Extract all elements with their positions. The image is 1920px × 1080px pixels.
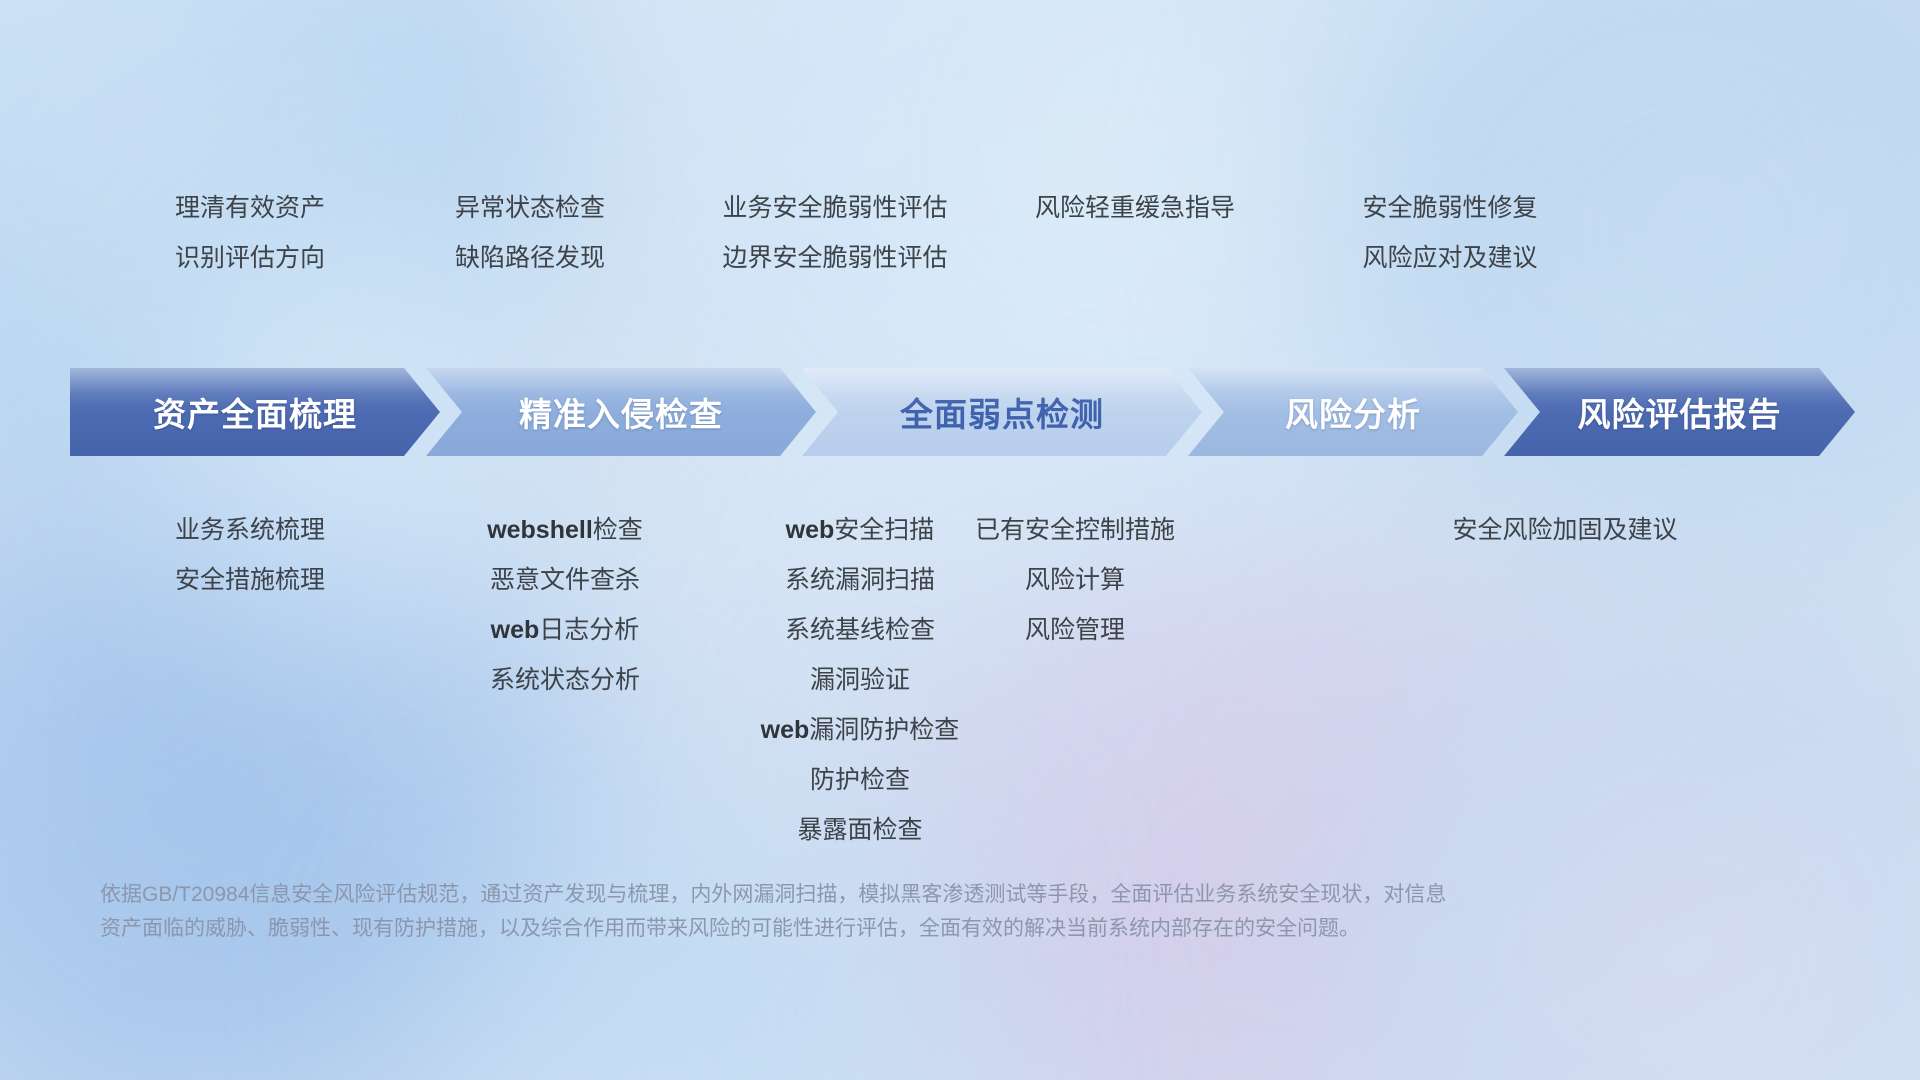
- stage-arrow-2[interactable]: 精准入侵检查: [426, 368, 816, 456]
- bottom-item: 已有安全控制措施: [865, 518, 1285, 543]
- stage-arrow-label: 全面弱点检测: [900, 388, 1104, 436]
- stage-arrow-label: 资产全面梳理: [153, 388, 357, 436]
- bottom-item: web漏洞防护检查: [650, 718, 1070, 743]
- process-diagram: 理清有效资产 识别评估方向 异常状态检查 缺陷路径发现 业务安全脆弱性评估 边界…: [0, 0, 1920, 1080]
- stage-arrow-label: 风险评估报告: [1578, 388, 1782, 436]
- footer-description: 依据GB/T20984信息安全风险评估规范，通过资产发现与梳理，内外网漏洞扫描，…: [100, 878, 1740, 946]
- top-item: 边界安全脆弱性评估: [625, 246, 1045, 271]
- top-item: 安全脆弱性修复: [1240, 196, 1660, 221]
- bottom-item: 防护检查: [650, 768, 1070, 793]
- footer-line: 资产面临的威胁、脆弱性、现有防护措施，以及综合作用而带来风险的可能性进行评估，全…: [100, 912, 1740, 946]
- bottom-item: 安全风险加固及建议: [1355, 518, 1775, 543]
- stage-arrow-3[interactable]: 全面弱点检测: [802, 368, 1202, 456]
- stage-arrow-5[interactable]: 风险评估报告: [1504, 368, 1855, 456]
- stage-arrow-label: 精准入侵检查: [519, 388, 723, 436]
- stage-arrow-4[interactable]: 风险分析: [1188, 368, 1518, 456]
- stage-4-bottom-list: 已有安全控制措施 风险计算 风险管理: [865, 518, 1285, 668]
- stage-5-bottom-list: 安全风险加固及建议: [1355, 518, 1775, 568]
- bottom-item: 暴露面检查: [650, 818, 1070, 843]
- footer-line: 依据GB/T20984信息安全风险评估规范，通过资产发现与梳理，内外网漏洞扫描，…: [100, 878, 1740, 912]
- bottom-item: 风险管理: [865, 618, 1285, 643]
- bottom-item: 漏洞验证: [650, 668, 1070, 693]
- top-item: 风险应对及建议: [1240, 246, 1660, 271]
- stage-arrow-label: 风险分析: [1285, 388, 1421, 436]
- stage-5-top-list: 安全脆弱性修复 风险应对及建议: [1240, 196, 1660, 296]
- stage-arrow-1[interactable]: 资产全面梳理: [70, 368, 440, 456]
- stage-arrow-band: 资产全面梳理 精准入侵检查 全面弱点检测 风险分析 风险评估报告: [70, 368, 1855, 456]
- bottom-item: 风险计算: [865, 568, 1285, 593]
